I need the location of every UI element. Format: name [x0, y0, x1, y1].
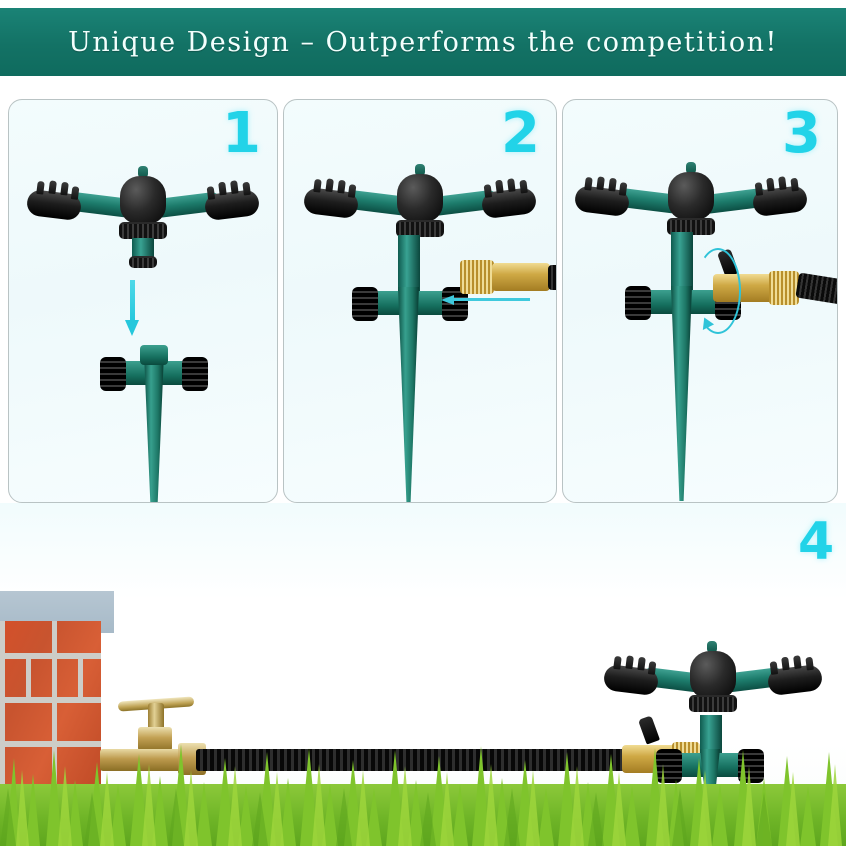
spray-nub-icon [770, 661, 779, 675]
spray-nub-icon [619, 182, 628, 196]
header-banner: Unique Design – Outperforms the competit… [0, 8, 846, 76]
outlet-thread [129, 256, 157, 268]
rotor-hub [668, 172, 714, 220]
stake-nut-left [100, 357, 126, 391]
steps-row: 1 [0, 99, 846, 503]
spray-nub-icon [71, 186, 80, 200]
spray-nub-icon [348, 184, 357, 198]
spray-nub-icon [755, 182, 764, 196]
rotor-hub [120, 176, 166, 224]
ground-stake-1 [94, 345, 214, 503]
rotate-arrow-icon [695, 248, 745, 344]
brass-knurled-nut [769, 271, 799, 305]
page-title: Unique Design – Outperforms the competit… [68, 27, 778, 58]
brass-knurled-nut [460, 260, 494, 294]
spray-nub-icon [495, 180, 504, 194]
stake-spike [398, 287, 419, 502]
spray-nub-icon [781, 657, 790, 671]
spray-nub-icon [648, 661, 657, 675]
spray-nub-icon [207, 186, 216, 200]
spray-nub-icon [48, 180, 57, 194]
sprinkler-head-1 [23, 152, 263, 282]
stake-nut-right [182, 357, 208, 391]
hose-end [548, 265, 557, 290]
spray-nub-icon [519, 180, 528, 194]
spray-nub-icon [507, 178, 516, 192]
spray-nub-icon [484, 184, 493, 198]
nozzle-cap-right [204, 189, 261, 221]
riser-tube [398, 235, 420, 295]
stake-spike [144, 353, 164, 503]
spray-nub-icon [793, 655, 802, 669]
threaded-collar [119, 222, 167, 239]
nozzle-cap-left [303, 187, 360, 219]
spray-nub-icon [242, 182, 251, 196]
riser-tube [671, 232, 693, 294]
rotor-hub [690, 651, 736, 699]
spray-nub-icon [778, 176, 787, 190]
rotor-hub [397, 174, 443, 222]
spray-nub-icon [60, 182, 69, 196]
step-panel-3: 3 [562, 99, 838, 503]
arrow-down-icon [125, 280, 140, 338]
outlet-neck [132, 238, 154, 258]
nozzle-cap-left [26, 189, 83, 221]
spray-nub-icon [596, 176, 605, 190]
step-number-4: 4 [798, 516, 834, 568]
spray-nub-icon [613, 656, 622, 670]
spray-nub-icon [805, 657, 814, 671]
step-panel-2: 2 [283, 99, 557, 503]
nozzle-cap-right [481, 187, 538, 219]
spray-nub-icon [337, 180, 346, 194]
nozzle-cap-left [603, 664, 660, 696]
lawn-grass [0, 714, 846, 846]
ground-stake-2 [346, 235, 476, 503]
spray-nub-icon [218, 182, 227, 196]
stake-socket [140, 345, 168, 365]
stake-nut-left [352, 287, 378, 321]
arrow-left-icon [441, 295, 533, 307]
spray-nub-icon [608, 178, 617, 192]
stake-nut-left [625, 286, 651, 320]
nozzle-cap-right [752, 185, 809, 217]
threaded-collar [689, 695, 737, 712]
product-infographic: Unique Design – Outperforms the competit… [0, 0, 846, 846]
spray-nub-icon [637, 657, 646, 671]
spray-nub-icon [230, 180, 239, 194]
installed-scene [0, 503, 846, 846]
brass-barrel [492, 263, 550, 291]
spray-nub-icon [625, 655, 634, 669]
spray-nub-icon [325, 178, 334, 192]
hose-connector-2 [460, 258, 557, 300]
hose-end [795, 273, 838, 305]
nozzle-cap-right [767, 664, 824, 696]
nozzle-cap-left [574, 185, 631, 217]
step-panel-1: 1 [8, 99, 278, 503]
spray-nub-icon [584, 177, 593, 191]
spray-nub-icon [36, 181, 45, 195]
spray-nub-icon [766, 178, 775, 192]
stake-spike [671, 286, 692, 501]
spray-nub-icon [313, 179, 322, 193]
grass-blades [0, 714, 846, 846]
spray-nub-icon [790, 178, 799, 192]
